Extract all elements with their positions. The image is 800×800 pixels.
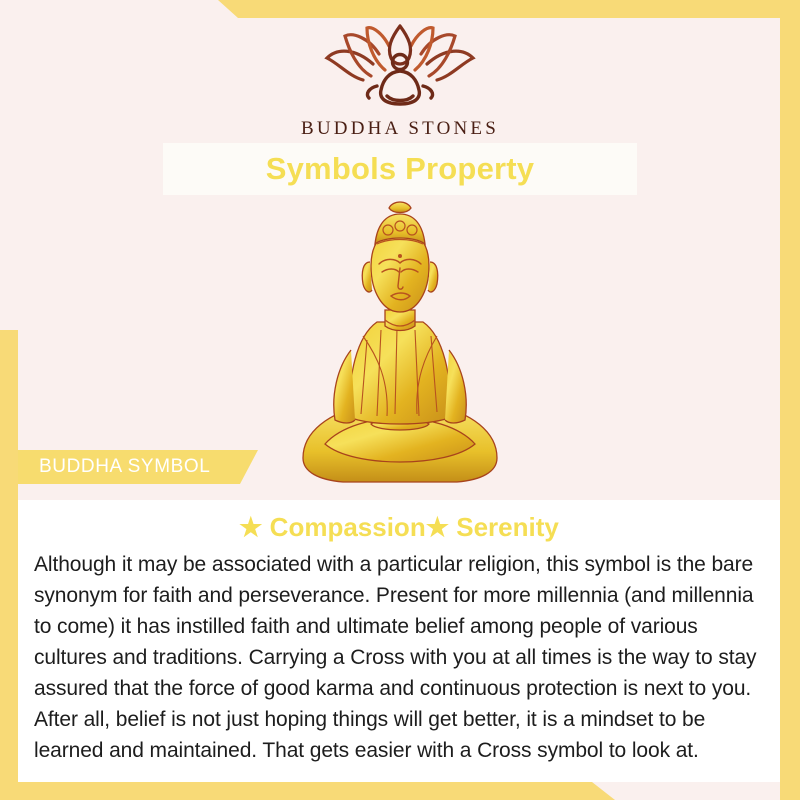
category-ribbon: BUDDHA SYMBOL [18, 450, 258, 484]
category-ribbon-label: BUDDHA SYMBOL [39, 456, 210, 478]
lotus-meditation-icon [315, 24, 485, 112]
brand-logo: BUDDHA STONES [0, 24, 800, 140]
content-paragraph: Although it may be associated with a par… [34, 549, 764, 766]
page-title: Symbols Property [266, 151, 535, 187]
content-subheading: ★ Compassion★ Serenity [34, 512, 764, 543]
brand-name: BUDDHA STONES [301, 118, 499, 140]
title-banner: Symbols Property [163, 143, 637, 195]
decorative-band-top [0, 0, 800, 18]
hero-image [0, 200, 800, 490]
content-panel: ★ Compassion★ Serenity Although it may b… [18, 500, 780, 782]
decorative-band-bottom [0, 782, 800, 800]
page-root: BUDDHA STONES Symbols Property [0, 0, 800, 800]
golden-buddha-statue-icon [285, 200, 515, 490]
